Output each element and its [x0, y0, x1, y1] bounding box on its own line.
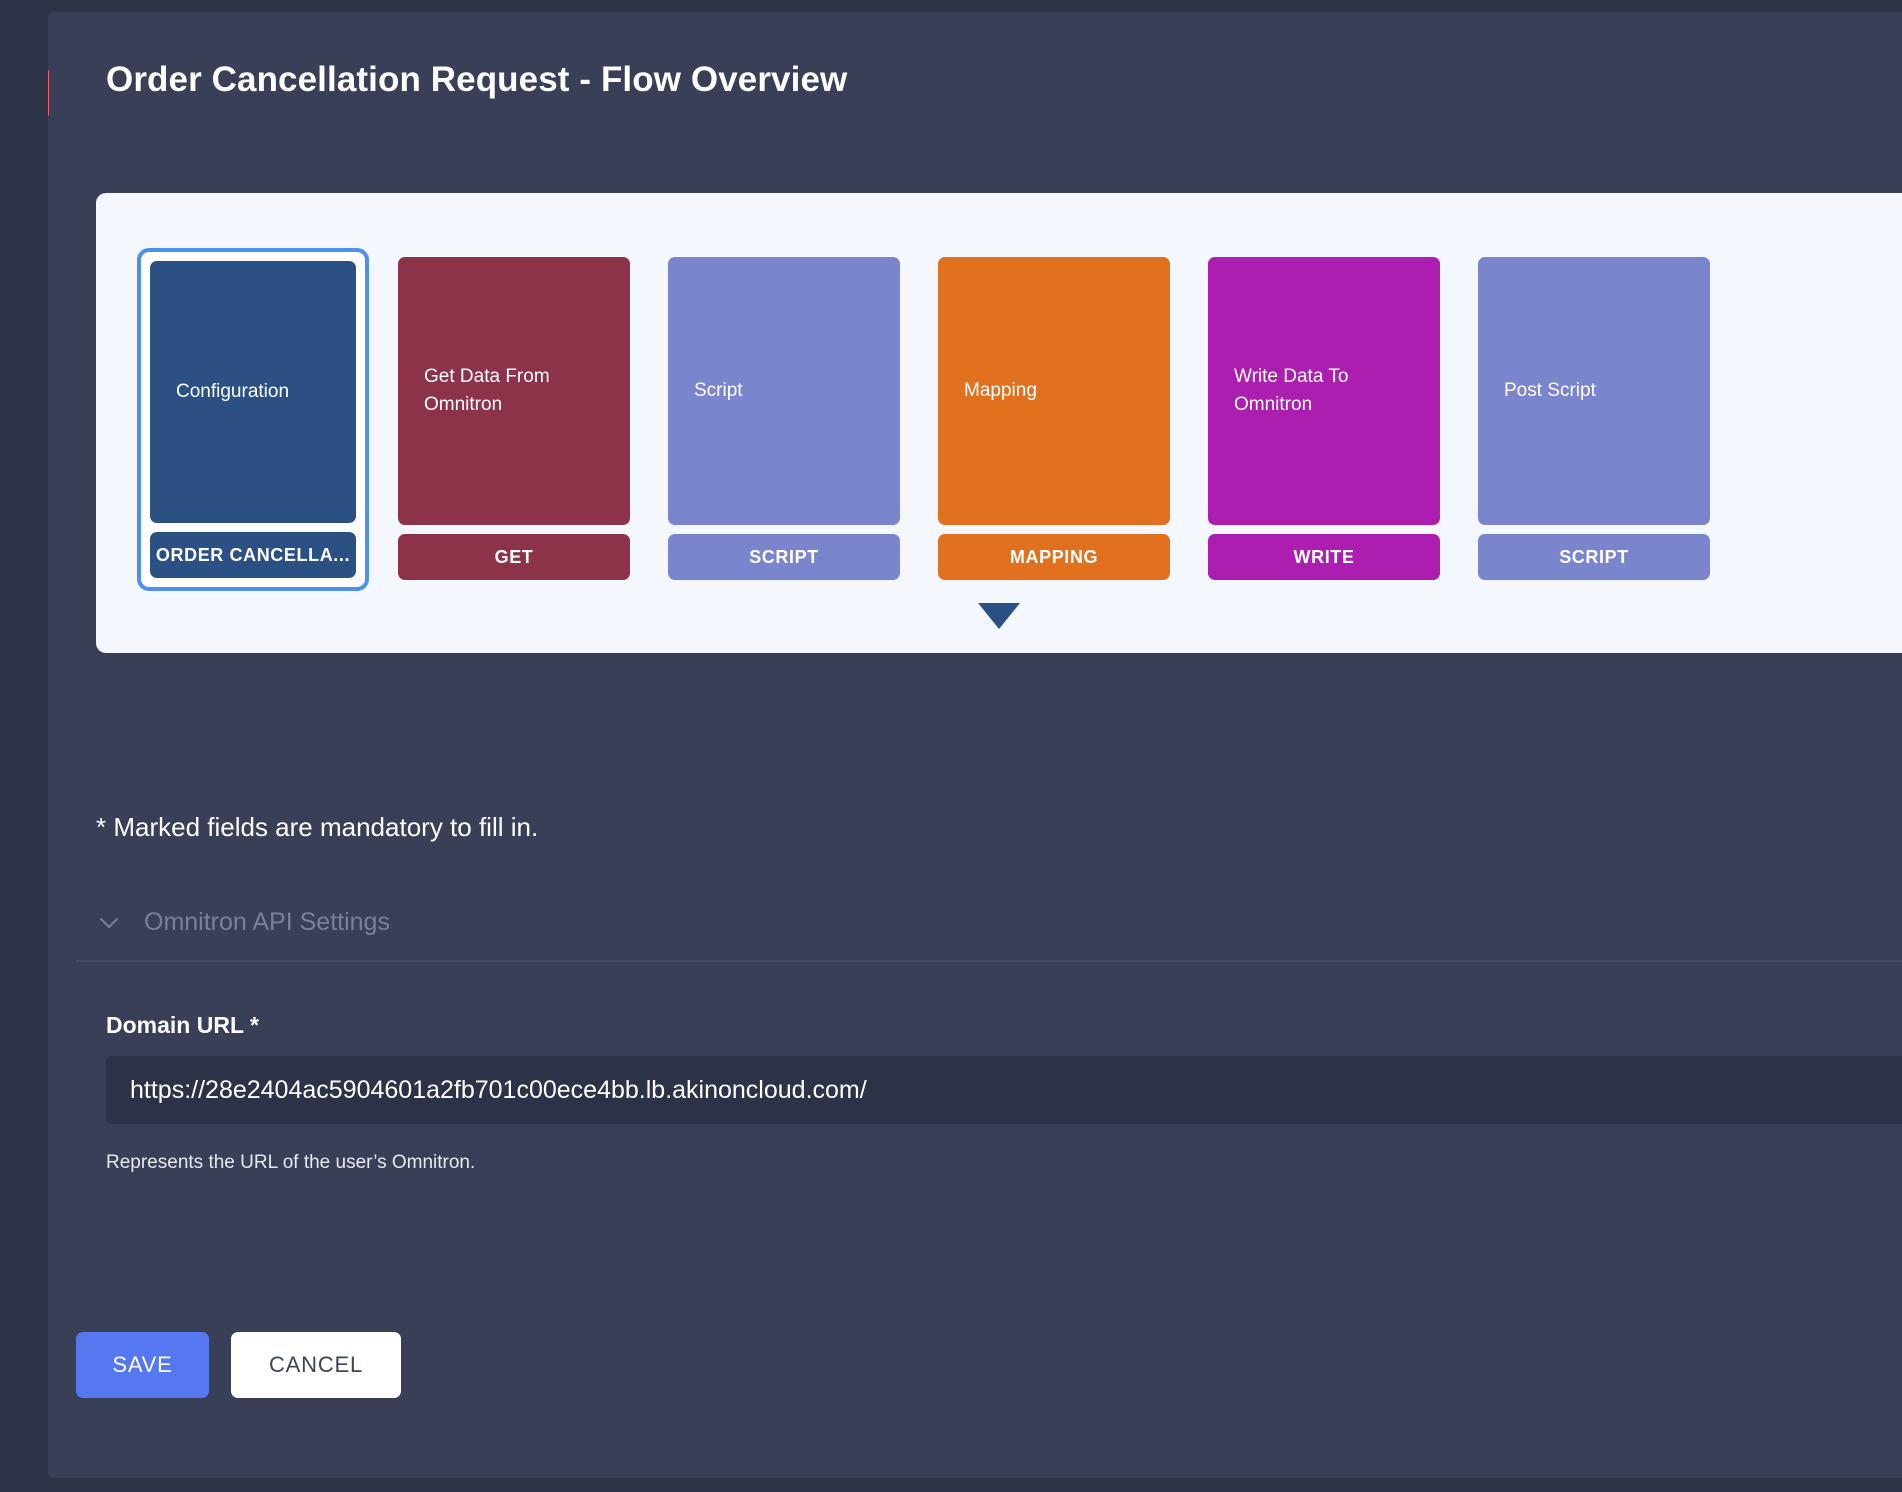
mandatory-fields-note: * Marked fields are mandatory to fill in…: [96, 812, 538, 843]
flow-node-badge-label: WRITE: [1294, 547, 1355, 568]
flow-node-body[interactable]: Configuration: [150, 261, 356, 523]
flow-node-body[interactable]: Mapping: [938, 257, 1170, 525]
flow-node-body[interactable]: Get Data From Omnitron: [398, 257, 630, 525]
domain-url-help-text: Represents the URL of the user’s Omnitro…: [106, 1152, 475, 1174]
flow-node-badge[interactable]: GET: [398, 534, 630, 580]
flow-node-badge[interactable]: ORDER CANCELLA...: [150, 532, 356, 578]
section-header-omnitron-api-settings[interactable]: Omnitron API Settings: [96, 908, 390, 937]
flow-node-title: Write Data To Omnitron: [1234, 363, 1414, 418]
flow-node-badge-label: MAPPING: [1010, 547, 1098, 568]
flow-node-script[interactable]: Script SCRIPT: [668, 257, 900, 580]
flow-node-badge[interactable]: WRITE: [1208, 534, 1440, 580]
chevron-down-icon[interactable]: [96, 910, 122, 936]
flow-node-badge-label: SCRIPT: [1559, 547, 1629, 568]
flow-node-badge-label: ORDER CANCELLA...: [156, 545, 350, 566]
section-divider: [76, 960, 1902, 962]
flow-node-title: Post Script: [1504, 377, 1596, 405]
domain-url-input[interactable]: [106, 1056, 1902, 1124]
section-title: Omnitron API Settings: [144, 908, 390, 937]
flow-node-post-script[interactable]: Post Script SCRIPT: [1478, 257, 1710, 580]
flow-node-badge-label: SCRIPT: [749, 547, 819, 568]
flow-node-title: Configuration: [176, 378, 289, 406]
save-button[interactable]: SAVE: [76, 1332, 209, 1398]
flow-node-badge-label: GET: [495, 547, 534, 568]
title-accent-bar: [48, 70, 49, 116]
app-root: Order Cancellation Request - Flow Overvi…: [0, 0, 1902, 1492]
settings-form: * Marked fields are mandatory to fill in…: [48, 712, 1902, 1478]
flow-node-body[interactable]: Script: [668, 257, 900, 525]
flow-node-track: Configuration ORDER CANCELLA... Get Data…: [146, 257, 1710, 582]
domain-url-label: Domain URL *: [106, 1012, 259, 1039]
flow-node-title: Mapping: [964, 377, 1037, 405]
flow-node-body[interactable]: Write Data To Omnitron: [1208, 257, 1440, 525]
flow-node-badge[interactable]: SCRIPT: [1478, 534, 1710, 580]
flow-overview-panel: Configuration ORDER CANCELLA... Get Data…: [96, 193, 1902, 653]
flow-node-title: Script: [694, 377, 743, 405]
page-title: Order Cancellation Request - Flow Overvi…: [106, 60, 847, 100]
cancel-button[interactable]: CANCEL: [231, 1332, 401, 1398]
flow-node-body[interactable]: Post Script: [1478, 257, 1710, 525]
flow-node-badge[interactable]: SCRIPT: [668, 534, 900, 580]
triangle-down-icon: [978, 603, 1020, 629]
flow-node-mapping[interactable]: Mapping MAPPING: [938, 257, 1170, 580]
flow-node-write-data-to-omnitron[interactable]: Write Data To Omnitron WRITE: [1208, 257, 1440, 580]
form-actions: SAVE CANCEL: [76, 1332, 401, 1398]
page-header: Order Cancellation Request - Flow Overvi…: [48, 12, 1902, 134]
flow-node-title: Get Data From Omnitron: [424, 363, 604, 418]
content-panel: Order Cancellation Request - Flow Overvi…: [48, 12, 1902, 1478]
flow-node-badge[interactable]: MAPPING: [938, 534, 1170, 580]
flow-node-get-data-from-omnitron[interactable]: Get Data From Omnitron GET: [398, 257, 630, 580]
flow-node-configuration[interactable]: Configuration ORDER CANCELLA...: [137, 248, 369, 591]
